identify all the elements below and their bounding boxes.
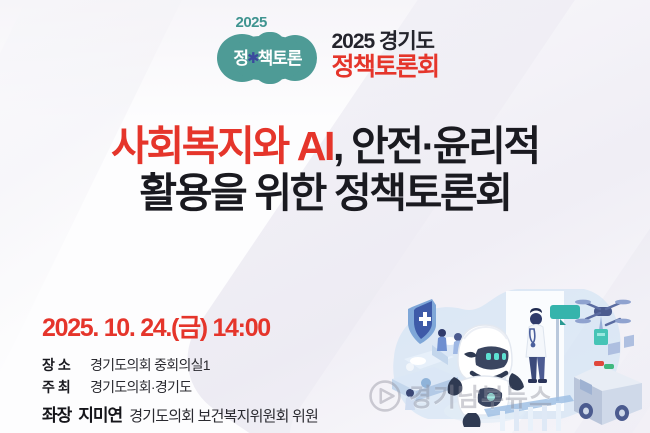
logo-blob-text: 정 ✱ 책토론 <box>217 32 317 84</box>
header-line-2: 정책토론회 <box>331 54 438 80</box>
logo-year-label: 2025 <box>235 14 266 31</box>
host-value: 경기도의회·경기도 <box>90 377 191 397</box>
detail-row-venue: 장소 경기도의회 중회의실1 <box>42 355 318 375</box>
watermark: 경기남부뉴스 <box>368 378 553 414</box>
chair-label: 좌장 <box>42 401 71 426</box>
venue-value: 경기도의회 중회의실1 <box>90 355 210 375</box>
title-highlight: 사회복지와 AI <box>111 123 333 169</box>
detail-row-host: 주최 경기도의회·경기도 <box>42 377 318 397</box>
page-title: 사회복지와 AI, 안전·윤리적 활용을 위한 정책토론회 <box>0 123 650 216</box>
news-logo-icon <box>368 379 402 413</box>
watermark-text: 경기남부뉴스 <box>409 378 553 414</box>
chair-name: 지미연 <box>78 401 122 426</box>
title-line-1-rest: , 안전·윤리적 <box>333 123 539 169</box>
detail-row-chair: 좌장 지미연 경기도의회 보건복지위원회 위원 <box>42 401 318 426</box>
title-line-1: 사회복지와 AI, 안전·윤리적 <box>0 123 650 170</box>
policy-forum-logo: 2025 정 ✱ 책토론 <box>211 16 321 94</box>
chair-affiliation: 경기도의회 보건복지위원회 위원 <box>129 405 318 426</box>
header-text-block: 2025 경기도 정책토론회 <box>331 31 438 80</box>
poster-header: 2025 정 ✱ 책토론 2025 경기도 정책토론회 <box>0 14 650 96</box>
poster-canvas: 2025 정 ✱ 책토론 2025 경기도 정책토론회 사회복지와 AI, 안전… <box>0 0 650 433</box>
event-datetime: 2025. 10. 24.(금) 14:00 <box>42 308 318 344</box>
logo-text-part-2: 책토론 <box>258 50 302 67</box>
host-label: 주최 <box>42 377 84 397</box>
logo-text-part-1: 정 <box>233 50 248 67</box>
header-line-1: 2025 경기도 <box>331 31 438 53</box>
title-line-2: 활용을 위한 정책토론회 <box>0 170 650 217</box>
venue-label: 장소 <box>42 355 84 375</box>
event-details: 2025. 10. 24.(금) 14:00 장소 경기도의회 중회의실1 주최… <box>42 308 318 428</box>
